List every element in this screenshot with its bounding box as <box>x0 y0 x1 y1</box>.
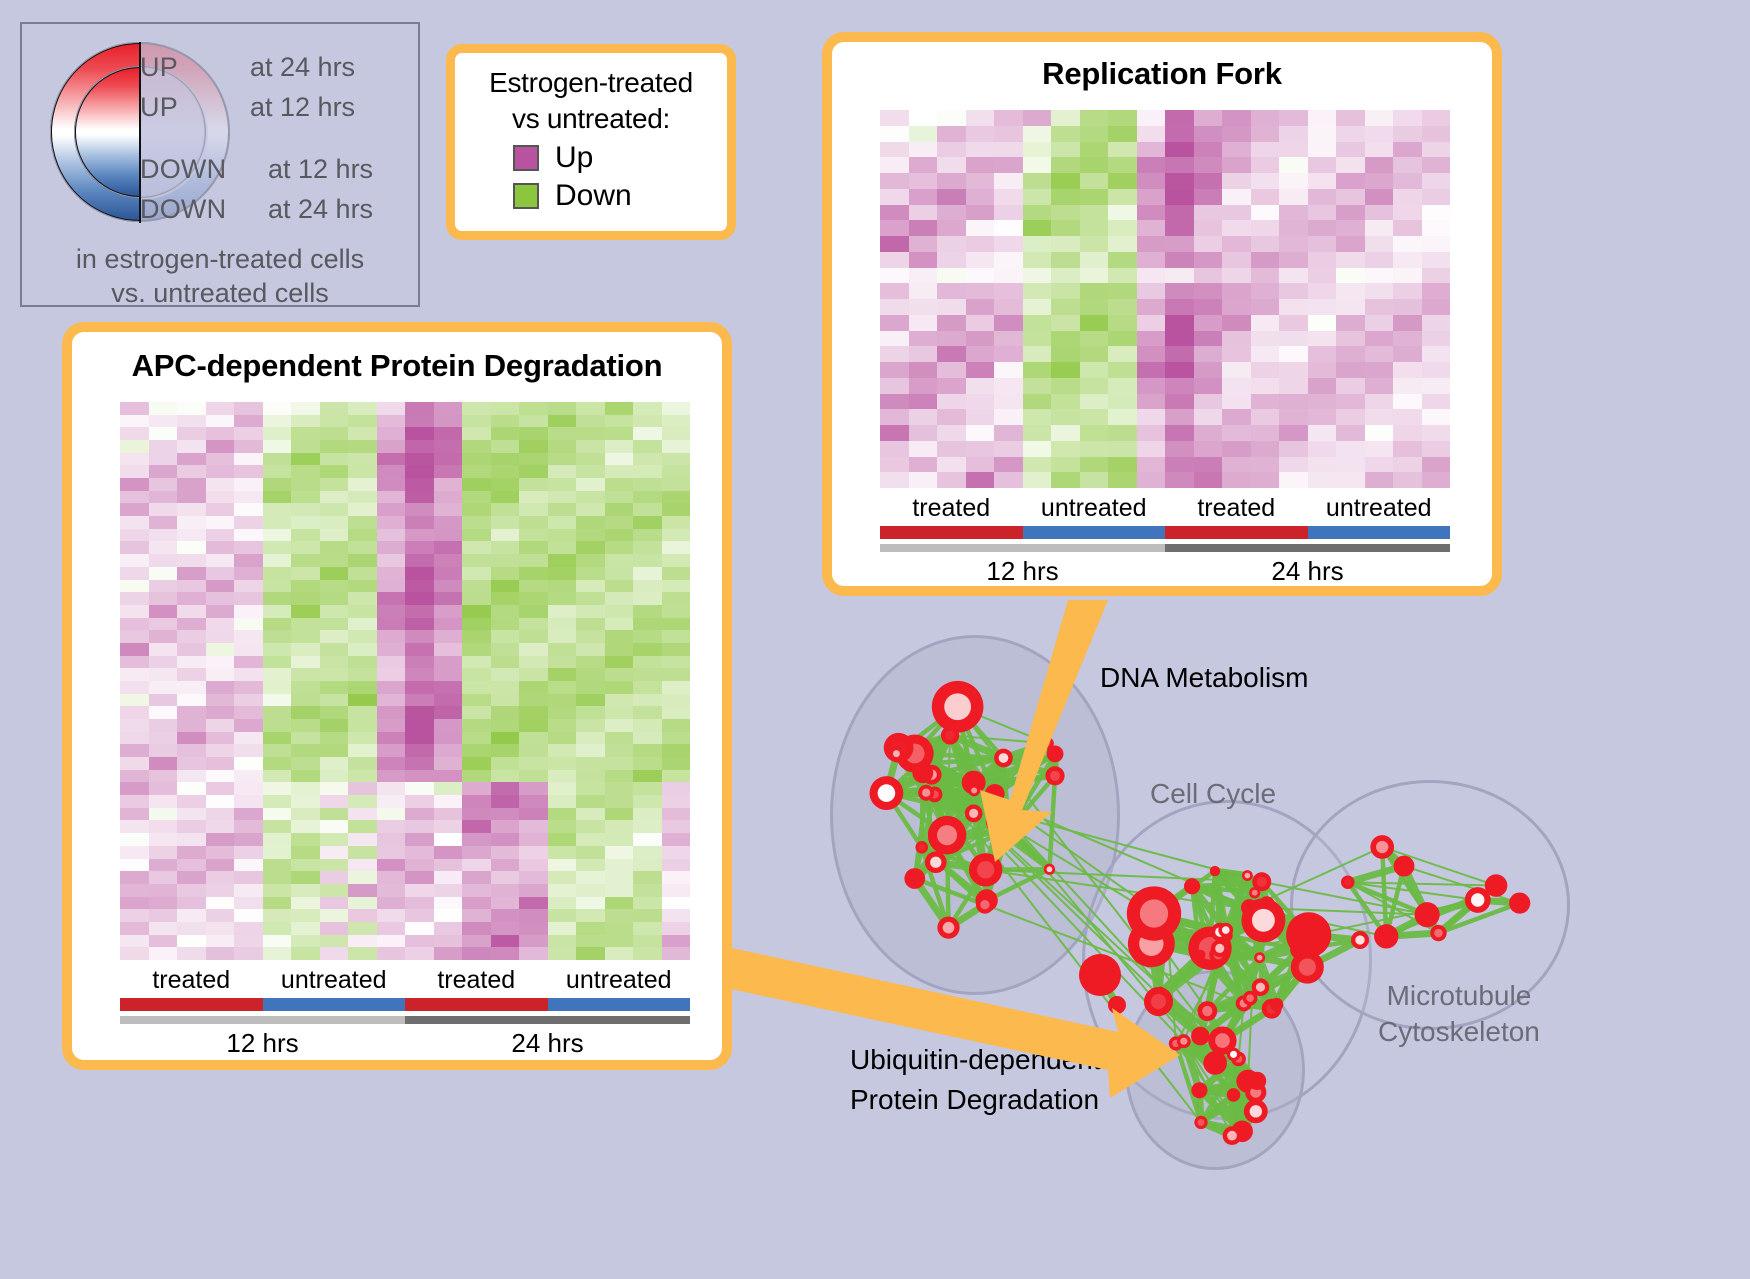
heatmap-cell <box>234 820 263 833</box>
heatmap-cell <box>405 529 434 542</box>
network-node[interactable] <box>870 776 904 810</box>
heatmap-cell <box>291 884 320 897</box>
heatmap-cell <box>519 732 548 745</box>
heatmap-cell <box>348 516 377 529</box>
heatmap-cell <box>234 706 263 719</box>
network-node[interactable] <box>1184 878 1200 894</box>
heatmap-cell <box>1080 252 1109 268</box>
heatmap-cell <box>291 947 320 960</box>
legend-up-12-label: UP <box>140 92 178 123</box>
heatmap-cell <box>633 440 662 453</box>
network-node[interactable] <box>995 816 1023 844</box>
heatmap-cell <box>605 529 634 542</box>
heatmap-cell <box>548 871 577 884</box>
heatmap-cell <box>937 315 966 331</box>
heatmap-cell <box>120 947 149 960</box>
heatmap-cell <box>263 592 292 605</box>
heatmap-cell <box>491 529 520 542</box>
heatmap-cell <box>234 516 263 529</box>
heatmap-cell <box>405 541 434 554</box>
network-node-core <box>1215 944 1224 953</box>
network-node[interactable] <box>1218 923 1233 938</box>
network-node[interactable] <box>1249 887 1260 898</box>
heatmap-cell <box>405 770 434 783</box>
heatmap-cell <box>320 656 349 669</box>
heatmap-cell <box>149 656 178 669</box>
heatmap-cell <box>1279 236 1308 252</box>
network-node[interactable] <box>1211 940 1229 958</box>
heatmap-cell <box>1279 409 1308 425</box>
heatmap-cell <box>462 922 491 935</box>
heatmap-cell <box>880 252 909 268</box>
network-node[interactable] <box>1227 1088 1240 1101</box>
heatmap-cell <box>291 567 320 580</box>
legend-updown-box: Estrogen-treated vs untreated: Up Down <box>446 44 736 240</box>
heatmap-cell <box>263 757 292 770</box>
heatmap-cell <box>1393 220 1422 236</box>
heatmap-cell <box>263 567 292 580</box>
heatmap-cell <box>576 694 605 707</box>
heatmap-cell <box>576 922 605 935</box>
heatmap-cell <box>348 897 377 910</box>
heatmap-cell <box>491 554 520 567</box>
network-node-core <box>893 750 900 757</box>
heatmap-cell <box>633 427 662 440</box>
heatmap-cell <box>662 503 691 516</box>
heatmap-cell <box>234 630 263 643</box>
heatmap-cell <box>1023 205 1052 221</box>
heatmap-cell <box>576 516 605 529</box>
heatmap-cell <box>177 795 206 808</box>
network-node[interactable] <box>968 785 980 797</box>
heatmap-cell <box>1422 236 1451 252</box>
heatmap-cell <box>405 757 434 770</box>
heatmap-cell <box>462 681 491 694</box>
network-node[interactable] <box>1394 856 1415 877</box>
network-node[interactable] <box>1341 875 1354 888</box>
heatmap-cell <box>1279 441 1308 457</box>
heatmap-cell <box>576 719 605 732</box>
heatmap-cell <box>1051 299 1080 315</box>
heatmap-cell <box>149 719 178 732</box>
heatmap-cell <box>348 427 377 440</box>
heatmap-cell <box>1422 283 1451 299</box>
heatmap-cell <box>434 529 463 542</box>
heatmap-cell <box>206 516 235 529</box>
heatmap-cell <box>320 592 349 605</box>
heatmap-cell <box>291 656 320 669</box>
heatmap-cell <box>880 299 909 315</box>
heatmap-cell <box>548 846 577 859</box>
heatmap-cell <box>1336 173 1365 189</box>
heatmap-cell <box>519 820 548 833</box>
heatmap-cell <box>177 440 206 453</box>
heatmap-cell <box>1023 394 1052 410</box>
heatmap-cell <box>1051 378 1080 394</box>
heatmap-cell <box>491 922 520 935</box>
heatmap-cell <box>462 427 491 440</box>
network-node[interactable] <box>1203 1051 1227 1075</box>
heatmap-cell <box>234 643 263 656</box>
network-node[interactable] <box>1079 954 1121 996</box>
heatmap-cell <box>633 402 662 415</box>
heatmap-cell <box>576 884 605 897</box>
network-node[interactable] <box>915 841 928 854</box>
heatmap-cell <box>348 681 377 694</box>
heatmap-cell <box>605 757 634 770</box>
heatmap-cell <box>462 757 491 770</box>
heatmap-cell <box>434 706 463 719</box>
heatmap-cell <box>377 402 406 415</box>
heatmap-cell <box>234 618 263 631</box>
cluster-label-microtubule-line1: Microtubule <box>1378 978 1540 1014</box>
network-node[interactable] <box>1244 1099 1268 1123</box>
heatmap-cell <box>206 782 235 795</box>
heatmap-cell <box>1251 110 1280 126</box>
heatmap-cell <box>994 472 1023 488</box>
heatmap-cell <box>519 744 548 757</box>
heatmap-cell <box>548 909 577 922</box>
heatmap-cell <box>966 441 995 457</box>
heatmap-cell <box>1080 362 1109 378</box>
cluster-label-ubiquitin-line1: Ubiquitin-dependent <box>850 1040 1101 1080</box>
heatmap-cell <box>1393 236 1422 252</box>
heatmap-cell <box>263 491 292 504</box>
network-node[interactable] <box>1248 1072 1266 1090</box>
heatmap-cell <box>662 909 691 922</box>
legend-down-label: Down <box>555 179 632 213</box>
heatmap-cell <box>1365 346 1394 362</box>
heatmap-cell <box>1137 409 1166 425</box>
heatmap-cell <box>234 554 263 567</box>
heatmap-cell <box>548 935 577 948</box>
heatmap-cell <box>937 457 966 473</box>
heatmap-cell <box>576 732 605 745</box>
legend-ring-box: UP at 24 hrs UP at 12 hrs DOWN at 12 hrs… <box>20 22 420 307</box>
heatmap-cell <box>1393 425 1422 441</box>
heatmap-cell <box>491 465 520 478</box>
heatmap-cell <box>966 425 995 441</box>
network-node[interactable] <box>1194 1116 1207 1129</box>
heatmap-cell <box>576 541 605 554</box>
heatmap-cell <box>1308 110 1337 126</box>
network-node[interactable] <box>1430 925 1446 941</box>
heatmap-cell <box>633 630 662 643</box>
heatmap-rep-time-labels: 12 hrs24 hrs <box>880 556 1450 587</box>
network-node[interactable] <box>1195 950 1205 960</box>
network-node[interactable] <box>937 917 959 939</box>
group-bar-treated <box>120 998 263 1011</box>
heatmap-cell <box>149 592 178 605</box>
heatmap-cell <box>548 580 577 593</box>
network-node[interactable] <box>1509 892 1530 913</box>
heatmap-cell <box>519 567 548 580</box>
network-node[interactable] <box>904 868 925 889</box>
heatmap-cell <box>1222 299 1251 315</box>
heatmap-cell <box>1194 283 1223 299</box>
heatmap-cell <box>405 440 434 453</box>
heatmap-cell <box>548 782 577 795</box>
network-node[interactable] <box>1177 1034 1191 1048</box>
heatmap-cell <box>177 808 206 821</box>
heatmap-cell <box>1336 283 1365 299</box>
heatmap-cell <box>377 757 406 770</box>
heatmap-cell <box>462 770 491 783</box>
heatmap-cell <box>966 472 995 488</box>
heatmap-cell <box>120 465 149 478</box>
network-node[interactable] <box>1374 924 1398 948</box>
network-node[interactable] <box>932 681 984 733</box>
heatmap-cell <box>1023 236 1052 252</box>
heatmap-cell <box>291 668 320 681</box>
heatmap-cell <box>880 362 909 378</box>
heatmap-cell <box>462 478 491 491</box>
network-node[interactable] <box>965 804 983 822</box>
heatmap-cell <box>462 541 491 554</box>
network-node[interactable] <box>1047 745 1064 762</box>
heatmap-cell <box>1251 189 1280 205</box>
heatmap-cell <box>662 453 691 466</box>
heatmap-cell <box>662 643 691 656</box>
heatmap-cell <box>633 503 662 516</box>
heatmap-cell <box>1108 441 1137 457</box>
heatmap-cell <box>576 643 605 656</box>
heatmap-cell <box>1080 346 1109 362</box>
heatmap-cell <box>206 630 235 643</box>
heatmap-cell <box>1279 205 1308 221</box>
network-node[interactable] <box>1485 874 1508 897</box>
heatmap-cell <box>263 909 292 922</box>
heatmap-cell <box>206 580 235 593</box>
heatmap-cell <box>234 656 263 669</box>
network-node[interactable] <box>1254 952 1265 963</box>
heatmap-cell <box>937 409 966 425</box>
heatmap-cell <box>1336 252 1365 268</box>
network-node[interactable] <box>1045 766 1064 785</box>
network-node[interactable] <box>1210 866 1220 876</box>
heatmap-cell <box>1422 299 1451 315</box>
heatmap-cell <box>909 157 938 173</box>
network-node[interactable] <box>1351 931 1369 949</box>
heatmap-cell <box>909 189 938 205</box>
heatmap-cell <box>605 643 634 656</box>
heatmap-cell <box>548 453 577 466</box>
heatmap-cell <box>548 554 577 567</box>
heatmap-cell <box>434 478 463 491</box>
heatmap-cell <box>1222 378 1251 394</box>
heatmap-cell <box>519 656 548 669</box>
network-node[interactable] <box>1144 987 1173 1016</box>
heatmap-cell <box>1279 110 1308 126</box>
heatmap-cell <box>994 173 1023 189</box>
heatmap-cell <box>434 643 463 656</box>
heatmap-cell <box>206 402 235 415</box>
heatmap-cell <box>1108 457 1137 473</box>
heatmap-cell <box>491 706 520 719</box>
network-node[interactable] <box>1127 886 1181 940</box>
heatmap-cell <box>633 808 662 821</box>
heatmap-cell <box>348 782 377 795</box>
heatmap-cell <box>377 732 406 745</box>
heatmap-cell <box>605 719 634 732</box>
heatmap-cell <box>149 909 178 922</box>
heatmap-cell <box>234 592 263 605</box>
heatmap-cell <box>633 618 662 631</box>
group-bar-treated <box>1165 526 1308 539</box>
heatmap-cell <box>434 440 463 453</box>
heatmap-cell <box>206 529 235 542</box>
heatmap-cell <box>1251 252 1280 268</box>
heatmap-cell <box>348 478 377 491</box>
heatmap-apc-treatment-bars <box>120 998 690 1011</box>
heatmap-cell <box>291 808 320 821</box>
heatmap-cell <box>405 719 434 732</box>
network-node[interactable] <box>969 853 1002 886</box>
network-node[interactable] <box>1108 996 1126 1014</box>
heatmap-cell <box>1336 425 1365 441</box>
heatmap-cell <box>662 947 691 960</box>
heatmap-cell <box>149 491 178 504</box>
heatmap-cell <box>120 681 149 694</box>
network-node[interactable] <box>1197 1001 1217 1021</box>
heatmap-cell <box>909 268 938 284</box>
network-node[interactable] <box>1415 902 1440 927</box>
heatmap-cell <box>605 491 634 504</box>
heatmap-cell <box>880 441 909 457</box>
heatmap-cell <box>434 770 463 783</box>
heatmap-cell <box>405 618 434 631</box>
heatmap-cell <box>994 425 1023 441</box>
network-node[interactable] <box>1291 951 1324 984</box>
heatmap-cell <box>263 846 292 859</box>
network-node[interactable] <box>1191 1027 1210 1046</box>
legend-down-12-label: DOWN <box>140 154 226 185</box>
heatmap-cell <box>1251 457 1280 473</box>
heatmap-cell <box>234 859 263 872</box>
heatmap-cell <box>234 833 263 846</box>
heatmap-cell <box>462 402 491 415</box>
heatmap-cell <box>1108 299 1137 315</box>
heatmap-cell <box>120 529 149 542</box>
network-node[interactable] <box>985 784 1005 804</box>
network-node[interactable] <box>1242 870 1253 881</box>
heatmap-cell <box>1165 157 1194 173</box>
network-node[interactable] <box>1243 991 1258 1006</box>
heatmap-cell <box>120 833 149 846</box>
heatmap-rep-time-bars <box>880 544 1450 552</box>
heatmap-cell <box>1336 472 1365 488</box>
legend-item-down: Down <box>455 179 727 213</box>
heatmap-cell <box>605 592 634 605</box>
heatmap-cell <box>120 491 149 504</box>
network-node[interactable] <box>941 726 959 744</box>
heatmap-cell <box>206 618 235 631</box>
heatmap-cell <box>377 846 406 859</box>
network-node[interactable] <box>1370 835 1394 859</box>
network-node-core <box>1202 1006 1212 1016</box>
heatmap-cell <box>937 220 966 236</box>
heatmap-cell <box>1308 409 1337 425</box>
heatmap-cell <box>519 491 548 504</box>
network-node[interactable] <box>1191 1082 1207 1098</box>
heatmap-cell <box>1194 394 1223 410</box>
heatmap-cell <box>633 782 662 795</box>
heatmap-cell <box>1108 268 1137 284</box>
time-label-12-hrs: 12 hrs <box>120 1028 405 1059</box>
heatmap-cell <box>1422 346 1451 362</box>
heatmap-cell <box>994 315 1023 331</box>
heatmap-cell <box>909 142 938 158</box>
network-node[interactable] <box>925 851 947 873</box>
heatmap-cell <box>149 618 178 631</box>
heatmap-cell <box>1137 441 1166 457</box>
heatmap-cell <box>462 529 491 542</box>
network-node-ring <box>1394 856 1415 877</box>
heatmap-cell <box>1194 425 1223 441</box>
heatmap-cell <box>234 808 263 821</box>
heatmap-cell <box>291 643 320 656</box>
network-node[interactable] <box>1223 1126 1242 1145</box>
heatmap-cell <box>1365 378 1394 394</box>
heatmap-cell <box>605 884 634 897</box>
heatmap-cell <box>377 897 406 910</box>
heatmap-cell <box>633 859 662 872</box>
heatmap-cell <box>291 935 320 948</box>
heatmap-cell <box>966 205 995 221</box>
group-label-treated: treated <box>880 494 1023 523</box>
heatmap-cell <box>880 457 909 473</box>
heatmap-cell <box>263 402 292 415</box>
heatmap-cell <box>1251 126 1280 142</box>
legend-up-12-time: at 12 hrs <box>250 92 355 123</box>
network-node[interactable] <box>890 747 903 760</box>
network-node-ring <box>1509 892 1530 913</box>
network-node[interactable] <box>1044 864 1055 875</box>
heatmap-cell <box>1108 236 1137 252</box>
heatmap-cell <box>1222 362 1251 378</box>
heatmap-cell <box>348 770 377 783</box>
heatmap-cell <box>377 618 406 631</box>
heatmap-cell <box>1023 425 1052 441</box>
heatmap-cell <box>206 554 235 567</box>
heatmap-cell <box>1393 394 1422 410</box>
heatmap-cell <box>548 503 577 516</box>
heatmap-cell <box>263 681 292 694</box>
network-node[interactable] <box>976 896 994 914</box>
heatmap-cell <box>348 567 377 580</box>
heatmap-cell <box>662 719 691 732</box>
network-node[interactable] <box>1241 898 1285 942</box>
network-node[interactable] <box>1227 1048 1241 1062</box>
network-node[interactable] <box>928 816 967 855</box>
network-node[interactable] <box>1270 998 1283 1011</box>
heatmap-cell <box>1080 157 1109 173</box>
network-node[interactable] <box>994 749 1013 768</box>
heatmap-cell <box>291 592 320 605</box>
panel-apc-degradation: APC-dependent Protein Degradation treate… <box>62 322 732 1070</box>
heatmap-cell <box>880 236 909 252</box>
heatmap-cell <box>462 656 491 669</box>
network-node[interactable] <box>918 785 934 801</box>
heatmap-cell <box>348 694 377 707</box>
heatmap-cell <box>937 236 966 252</box>
heatmap-cell <box>206 491 235 504</box>
heatmap-cell <box>994 346 1023 362</box>
heatmap-cell <box>149 541 178 554</box>
network-node-ring <box>985 784 1005 804</box>
heatmap-cell <box>1308 157 1337 173</box>
heatmap-cell <box>576 782 605 795</box>
